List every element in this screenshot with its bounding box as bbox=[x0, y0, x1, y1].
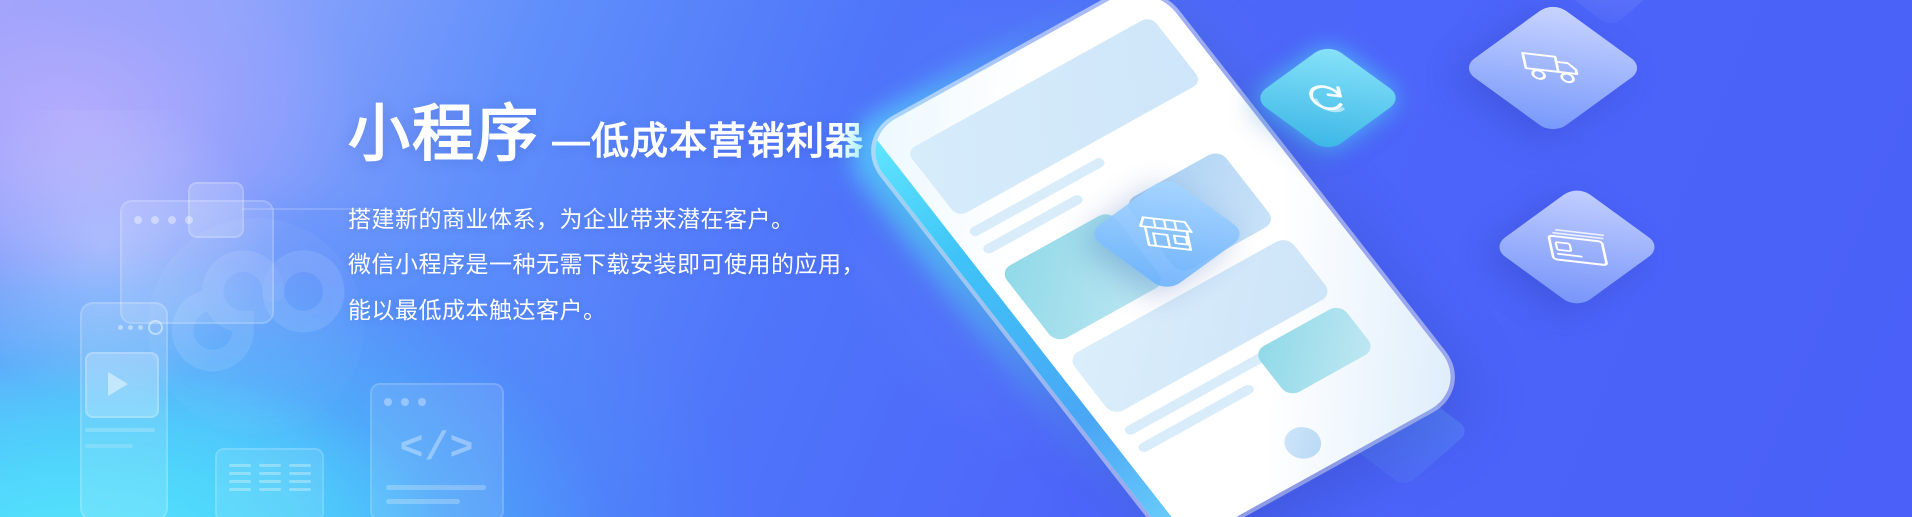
description-line-2: 微信小程序是一种无需下载安装即可使用的应用， bbox=[348, 249, 968, 280]
phone-home-button bbox=[1277, 421, 1328, 464]
phone-illustration bbox=[880, 0, 1912, 517]
description-line-3: 能以最低成本触达客户。 bbox=[348, 295, 968, 326]
headline-main: 小程序 bbox=[348, 104, 540, 166]
description-line-1: 搭建新的商业体系，为企业带来潜在客户。 bbox=[348, 204, 968, 235]
headline-sub: —低成本营销利器 bbox=[552, 123, 864, 166]
background-highlight-left bbox=[0, 110, 280, 410]
banner-description: 搭建新的商业体系，为企业带来潜在客户。 微信小程序是一种无需下载安装即可使用的应… bbox=[348, 204, 968, 326]
credit-card-icon bbox=[1492, 185, 1662, 309]
mini-program-promo-banner: </> 小程序 —低成本营销利器 搭建新的商业体系，为企业带来潜在客户。 微信小… bbox=[0, 0, 1912, 517]
